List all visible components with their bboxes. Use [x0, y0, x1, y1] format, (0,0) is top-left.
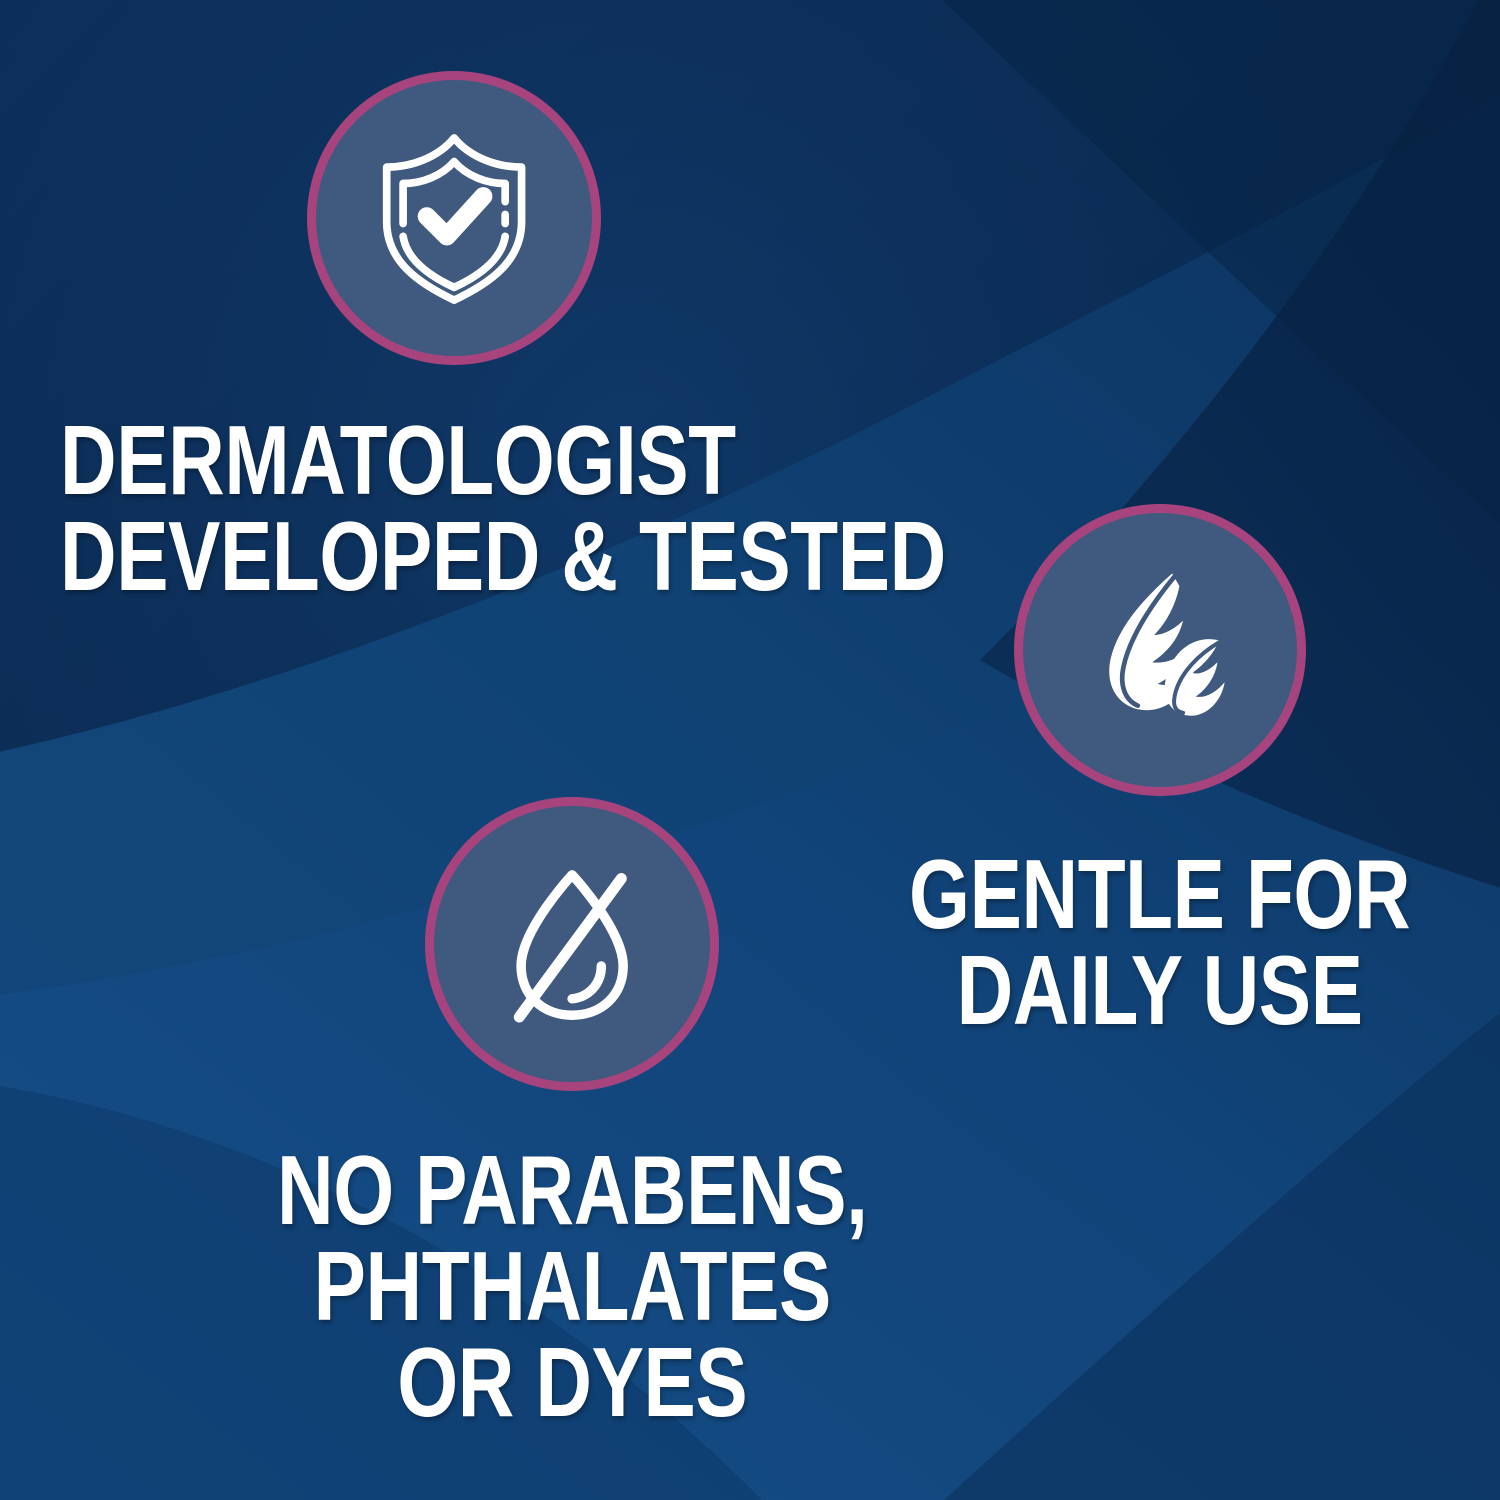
shield-check-icon [363, 127, 545, 309]
no-droplet-icon [481, 853, 663, 1035]
feature-label-line: DAILY USE [909, 942, 1410, 1038]
feature-label-line: GENTLE FOR [909, 846, 1410, 942]
feature-label-line: PHTHALATES [277, 1238, 868, 1334]
feature-label-line: NO PARABENS, [277, 1142, 868, 1238]
feather-icon [1069, 559, 1250, 740]
badge-dermatologist [307, 71, 601, 365]
badge-free-from [425, 797, 719, 1091]
badge-gentle [1014, 504, 1306, 796]
feature-badge-poster: DERMATOLOGIST DEVELOPED & TESTED GENTLE … [0, 0, 1500, 1500]
feature-label-free-from: NO PARABENS, PHTHALATES OR DYES [277, 1142, 868, 1430]
feature-label-line: DEVELOPED & TESTED [60, 508, 946, 604]
feature-label-dermatologist: DERMATOLOGIST DEVELOPED & TESTED [60, 412, 946, 604]
feature-label-line: OR DYES [277, 1334, 868, 1430]
feature-label-line: DERMATOLOGIST [60, 412, 946, 508]
feature-label-gentle: GENTLE FOR DAILY USE [909, 846, 1410, 1038]
